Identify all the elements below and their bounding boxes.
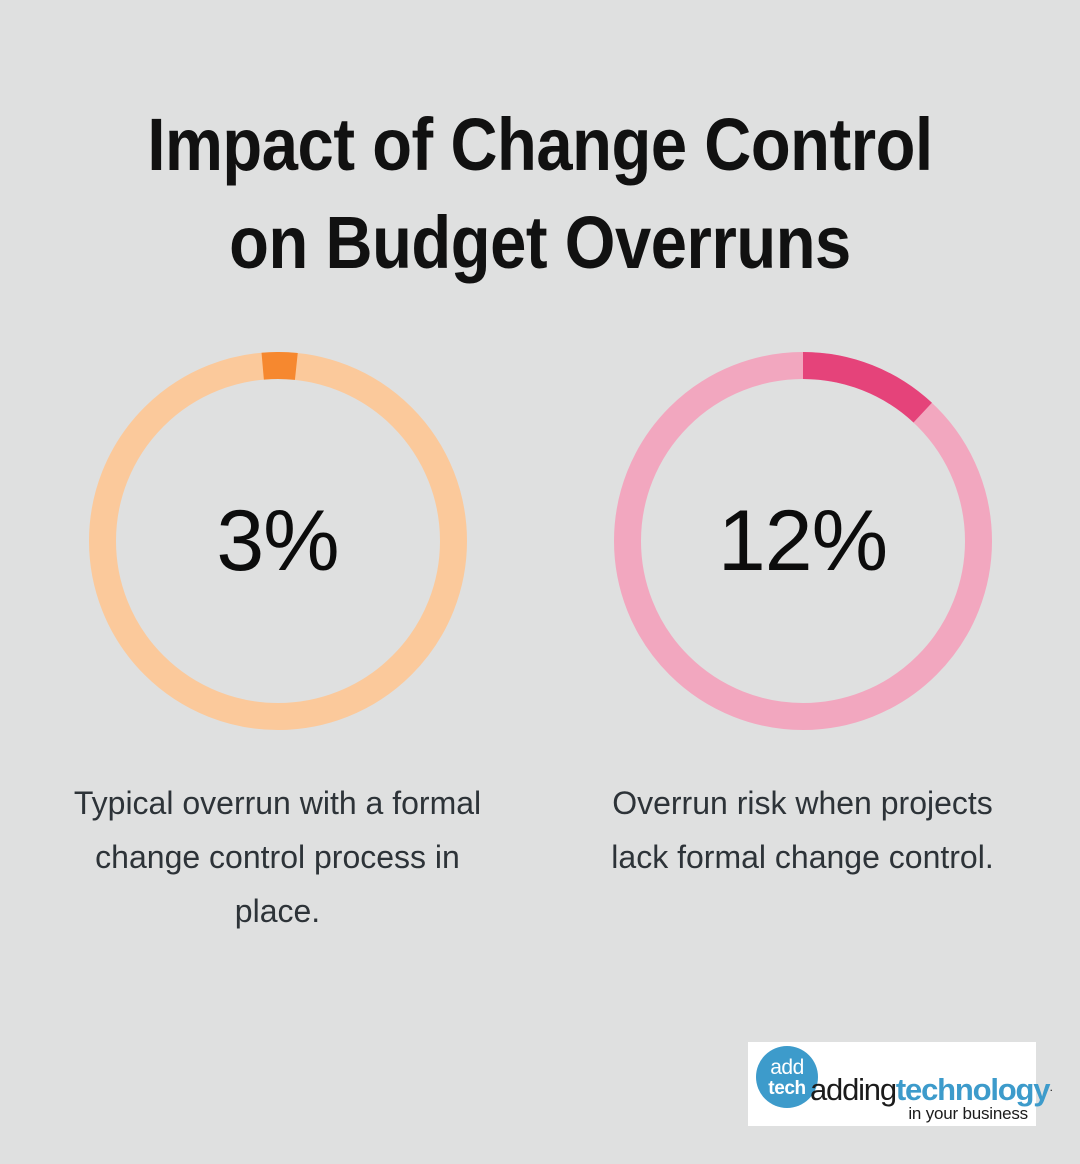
donut-svg-1 (89, 352, 467, 730)
donut-track-1 (102, 366, 453, 717)
donut-chart-row: 3% Typical overrun with a formal change … (0, 352, 1080, 938)
logo-registered-mark: · (1049, 1083, 1053, 1097)
donut-chart-with-change-control: 3% (89, 352, 467, 730)
logo-tagline: in your business (908, 1104, 1028, 1124)
chart-cell-without-change-control: 12% Overrun risk when projects lack form… (610, 352, 995, 938)
addtech-circle-icon: add tech (756, 1046, 818, 1108)
logo-wordmark-technology: technology (896, 1072, 1049, 1107)
chart-cell-with-change-control: 3% Typical overrun with a formal change … (85, 352, 470, 938)
chart-caption-with-change-control: Typical overrun with a formal change con… (68, 776, 488, 938)
chart-caption-without-change-control: Overrun risk when projects lack formal c… (593, 776, 1013, 884)
page-title-line-2: on Budget Overruns (65, 194, 1015, 292)
logo-mark-tech-text: tech (768, 1079, 805, 1098)
donut-track-2 (627, 366, 978, 717)
page-title-line-1: Impact of Change Control (65, 96, 1015, 194)
logo-wordmark: addingtechnology· (810, 1072, 1053, 1108)
donut-chart-without-change-control: 12% (614, 352, 992, 730)
brand-logo: add tech addingtechnology· in your busin… (748, 1042, 1036, 1126)
logo-wordmark-adding: adding (810, 1072, 896, 1107)
donut-svg-2 (614, 352, 992, 730)
logo-mark-add-text: add (770, 1057, 804, 1078)
page-title: Impact of Change Control on Budget Overr… (0, 96, 1080, 292)
